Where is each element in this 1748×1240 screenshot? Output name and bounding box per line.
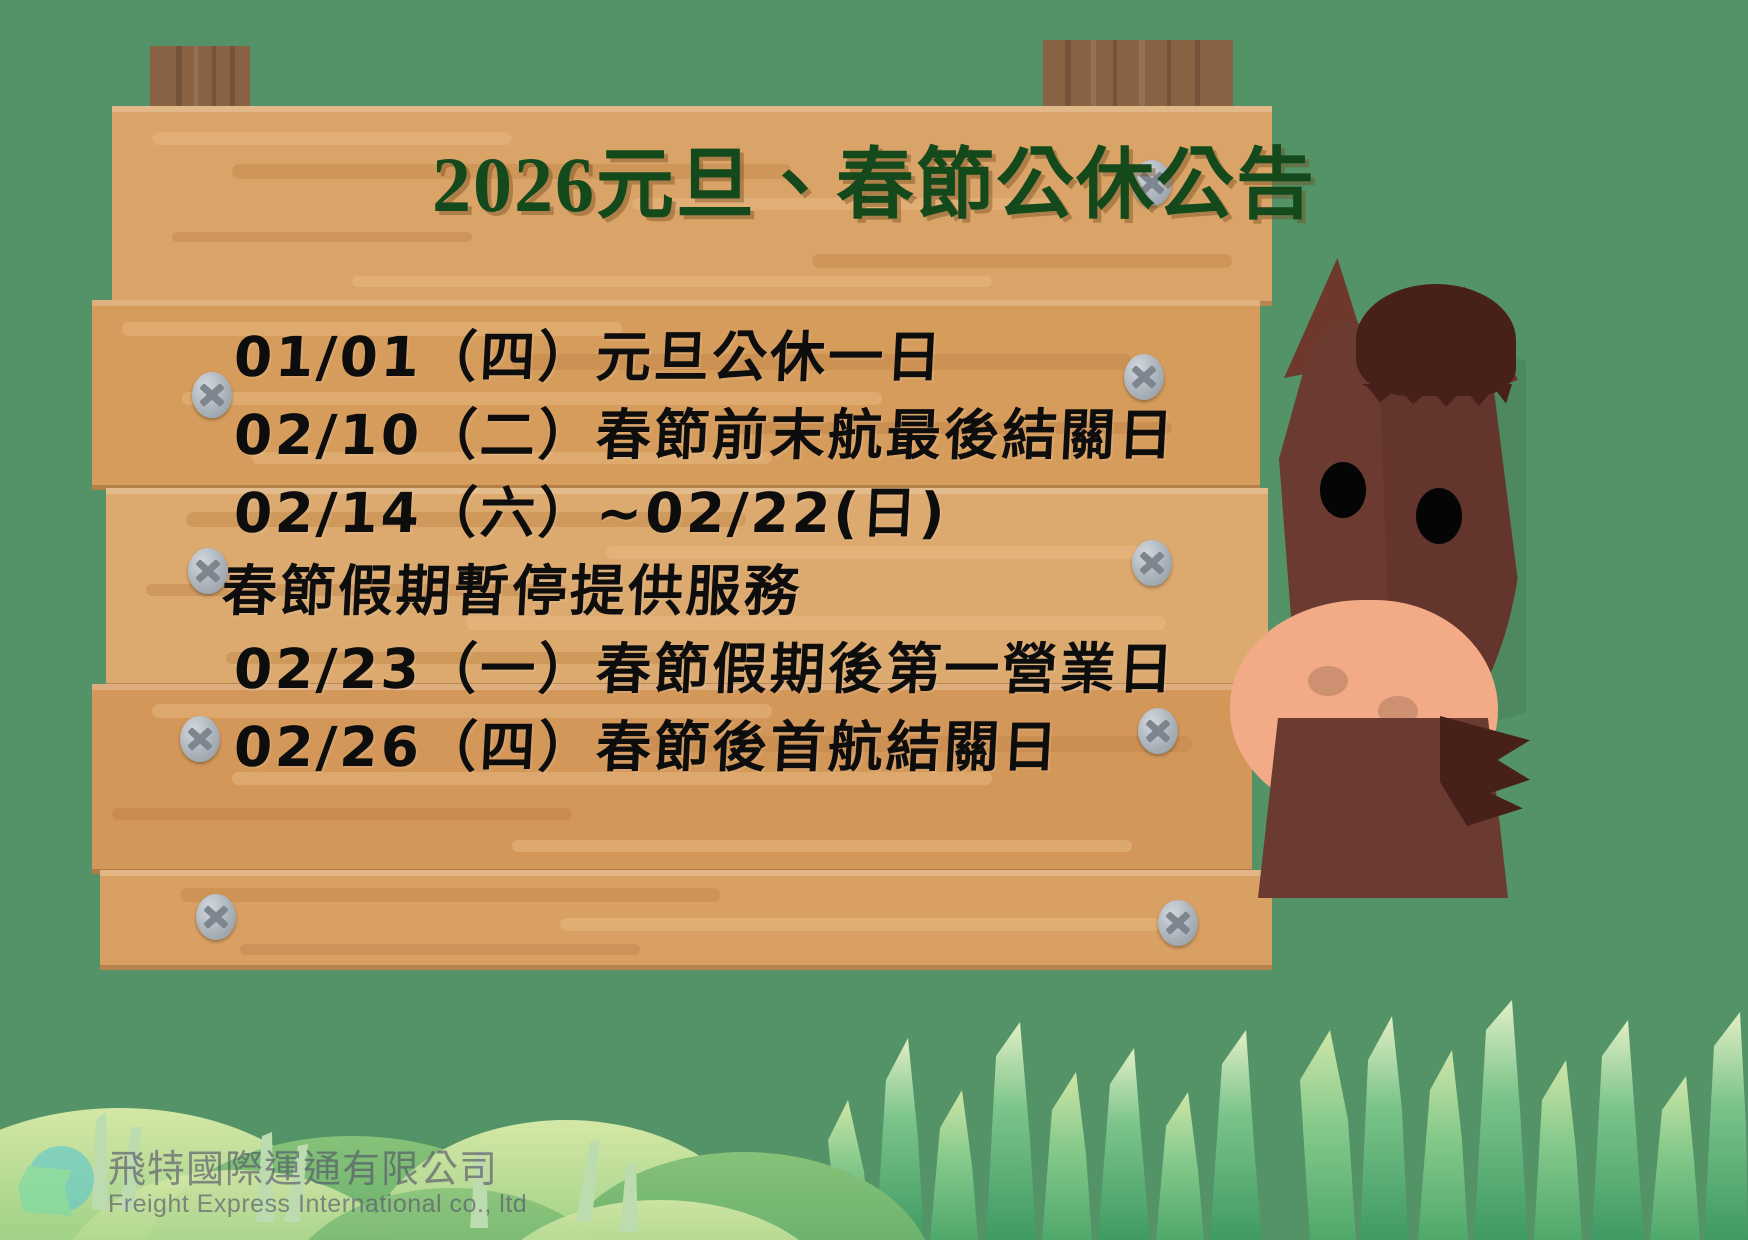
screw-icon — [196, 894, 236, 940]
logo-mark-icon — [18, 1146, 94, 1222]
page-title: 2026元旦、春節公休公告 — [0, 122, 1748, 234]
notice-list: 01/01（四）元旦公休一日 02/10（二）春節前末航最後結關日 02/14（… — [160, 318, 1170, 786]
notice-line: 春節假期暫停提供服務 — [220, 552, 1172, 630]
notice-line: 02/23（一）春節假期後第一營業日 — [232, 630, 1172, 708]
company-name-cn: 飛特國際運通有限公司 — [108, 1151, 527, 1191]
grass-clump-right — [1300, 1000, 1748, 1240]
notice-line: 02/26（四）春節後首航結關日 — [232, 708, 1172, 786]
company-name-en: Freight Express International co., ltd — [108, 1191, 527, 1217]
screw-icon — [1158, 900, 1198, 946]
horse-mane — [1356, 284, 1516, 396]
horse-mascot — [1228, 248, 1528, 888]
notice-line: 02/10（二）春節前末航最後結關日 — [232, 396, 1172, 474]
poster-canvas: 2026元旦、春節公休公告 01/01（四）元旦公休一日 02/10（二）春節前… — [0, 0, 1748, 1240]
board-plank-5 — [100, 870, 1272, 970]
horse-eye-left — [1320, 462, 1366, 518]
horse-nostril — [1308, 666, 1348, 696]
notice-line: 02/14（六）~02/22(日) — [232, 474, 1172, 552]
company-logo: 飛特國際運通有限公司 Freight Express International… — [18, 1146, 527, 1222]
logo-text-block: 飛特國際運通有限公司 Freight Express International… — [108, 1151, 527, 1217]
horse-eye-right — [1416, 488, 1462, 544]
notice-line: 01/01（四）元旦公休一日 — [232, 318, 1172, 396]
logo-leaf-shape — [18, 1166, 72, 1218]
